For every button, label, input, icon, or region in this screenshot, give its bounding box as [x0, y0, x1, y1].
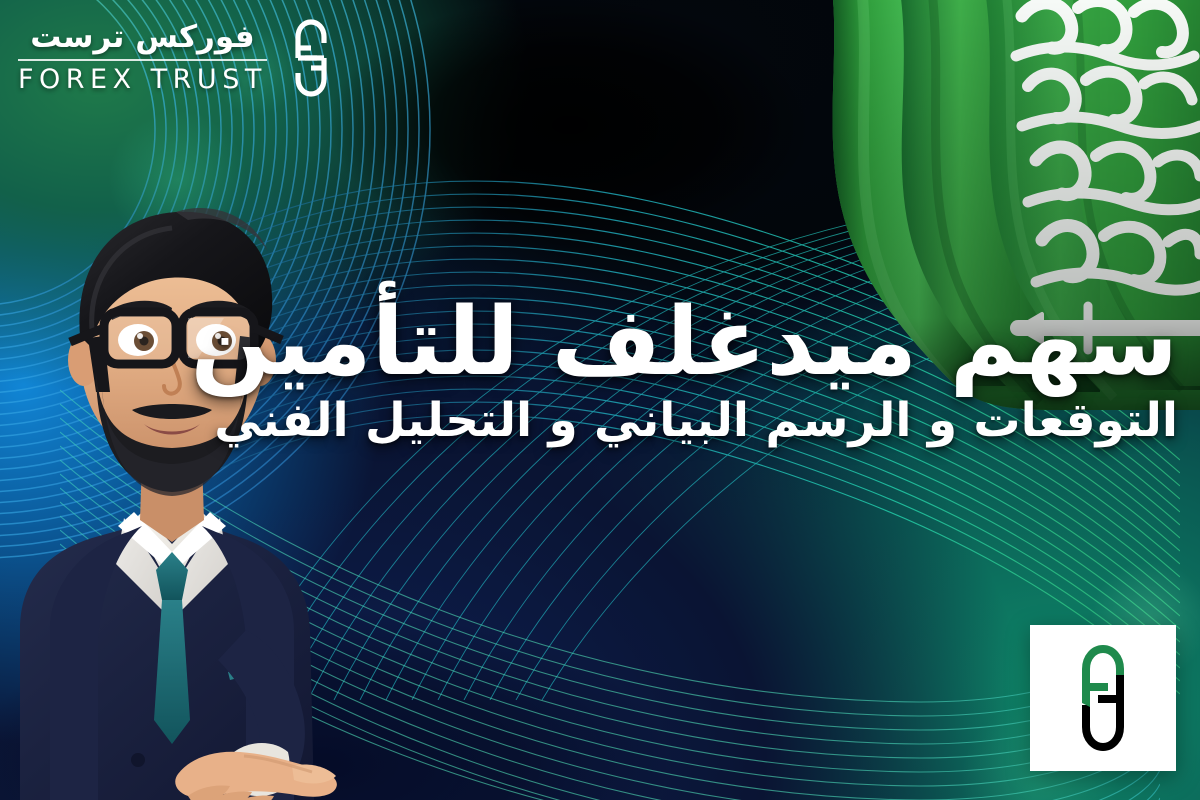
brand-wordmark: فوركس ترست FOREX TRUST [18, 21, 267, 94]
corner-logo-badge[interactable] [1030, 625, 1176, 771]
brand-logo[interactable]: فوركس ترست FOREX TRUST [18, 18, 339, 98]
saudi-flag-icon [770, 0, 1200, 410]
promo-banner: فوركس ترست FOREX TRUST سهم ميدغلف للتأمي… [0, 0, 1200, 800]
brand-name-english: FOREX TRUST [18, 65, 267, 95]
brand-name-arabic: فوركس ترست [18, 21, 267, 54]
forex-trust-monogram-icon [1064, 643, 1142, 753]
forex-trust-monogram-icon [281, 18, 339, 98]
brand-divider [18, 59, 267, 61]
businessman-presenter-icon [0, 160, 352, 800]
